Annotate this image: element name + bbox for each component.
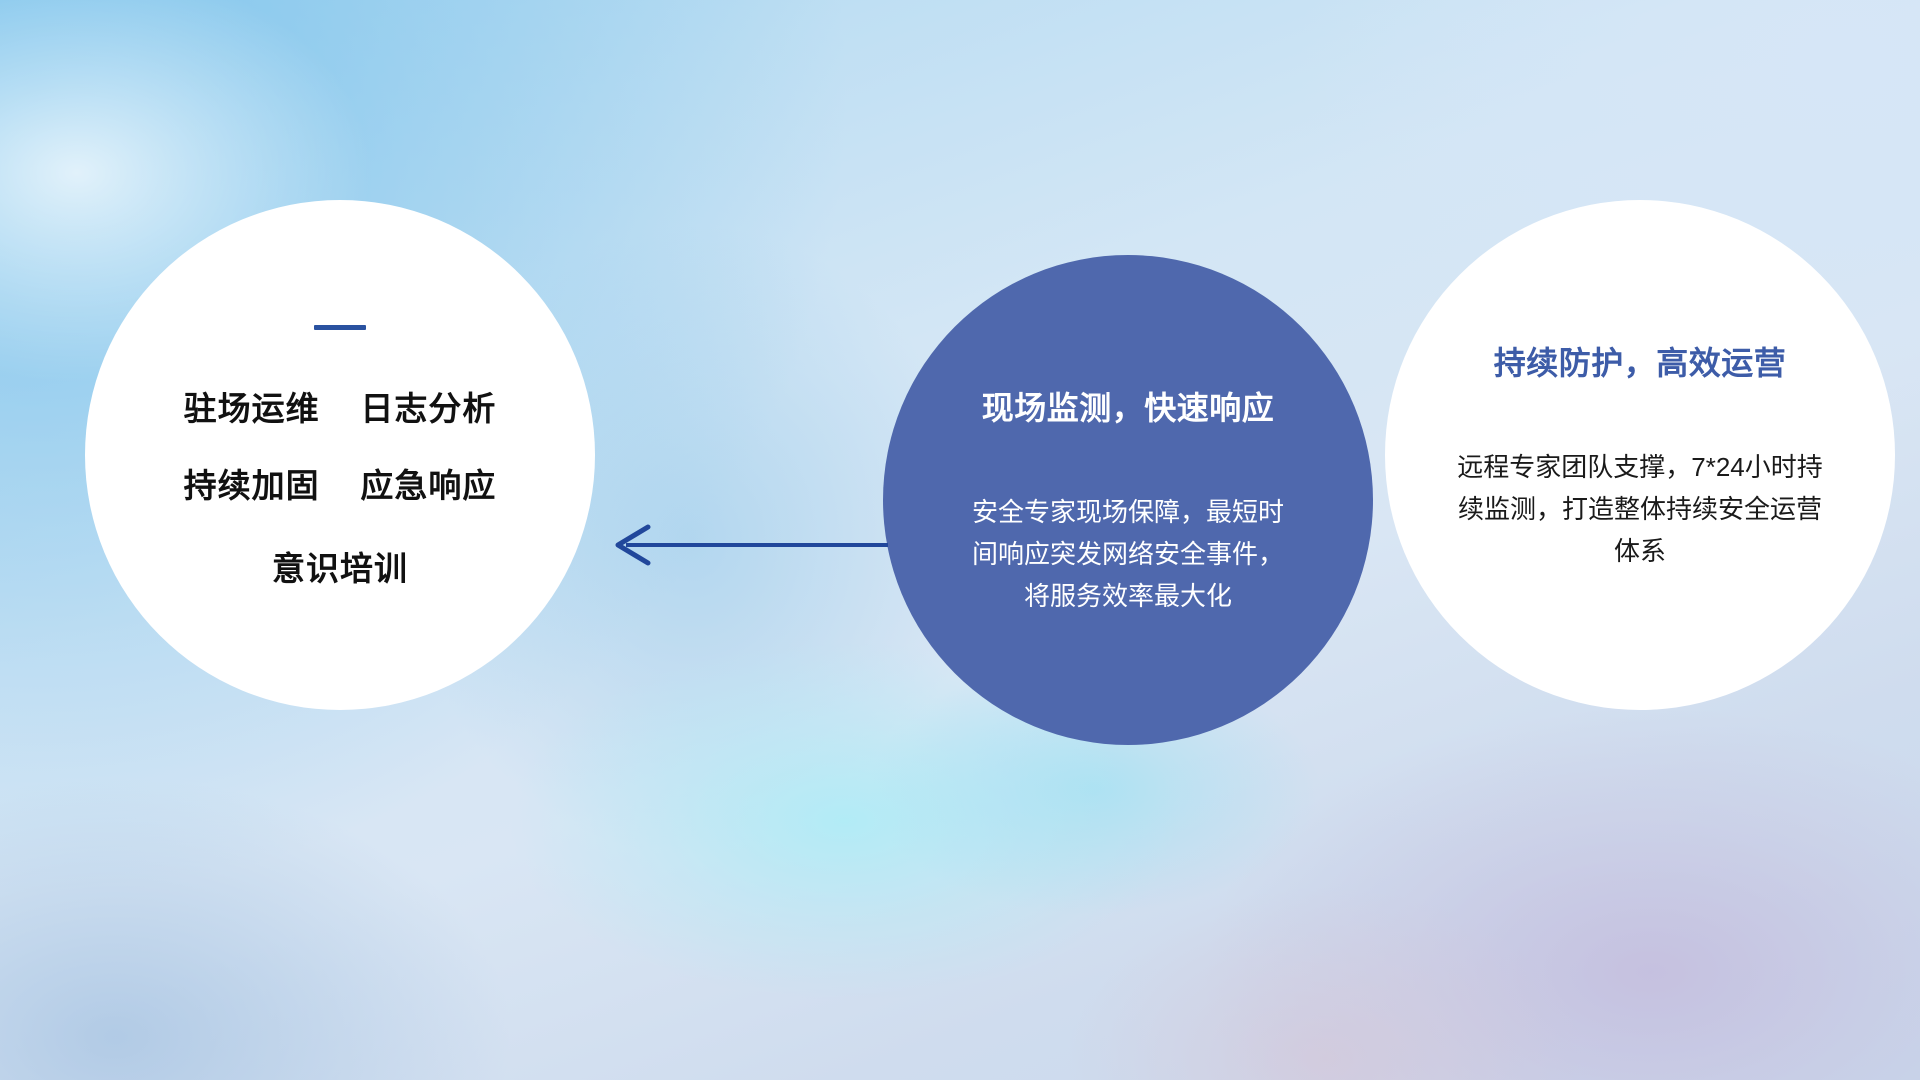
capability-line-2: 持续加固 应急响应 [184,469,497,502]
divider-rule [314,325,366,330]
onsite-monitoring-circle[interactable]: 现场监测，快速响应 安全专家现场保障，最短时间响应突发网络安全事件，将服务效率最… [883,255,1373,745]
continuous-protection-title: 持续防护，高效运营 [1494,338,1787,384]
continuous-protection-body: 远程专家团队支撑，7*24小时持续监测，打造整体持续安全运营体系 [1450,446,1830,572]
slide-canvas: 现场监测，快速响应 安全专家现场保障，最短时间响应突发网络安全事件，将服务效率最… [0,0,1920,1080]
onsite-monitoring-content: 现场监测，快速响应 安全专家现场保障，最短时间响应突发网络安全事件，将服务效率最… [883,255,1373,745]
capabilities-content: 驻场运维 日志分析 持续加固 应急响应 意识培训 [85,200,595,710]
capability-line-3: 意识培训 [272,552,408,585]
onsite-monitoring-body: 安全专家现场保障，最短时间响应突发网络安全事件，将服务效率最大化 [963,491,1293,617]
capability-line-1: 驻场运维 日志分析 [184,392,497,425]
continuous-protection-circle[interactable]: 持续防护，高效运营 远程专家团队支撑，7*24小时持续监测，打造整体持续安全运营… [1385,200,1895,710]
onsite-monitoring-title: 现场监测，快速响应 [982,383,1275,429]
capabilities-circle[interactable]: 驻场运维 日志分析 持续加固 应急响应 意识培训 [85,200,595,710]
leftward-arrow [600,515,890,575]
continuous-protection-content: 持续防护，高效运营 远程专家团队支撑，7*24小时持续监测，打造整体持续安全运营… [1385,200,1895,710]
